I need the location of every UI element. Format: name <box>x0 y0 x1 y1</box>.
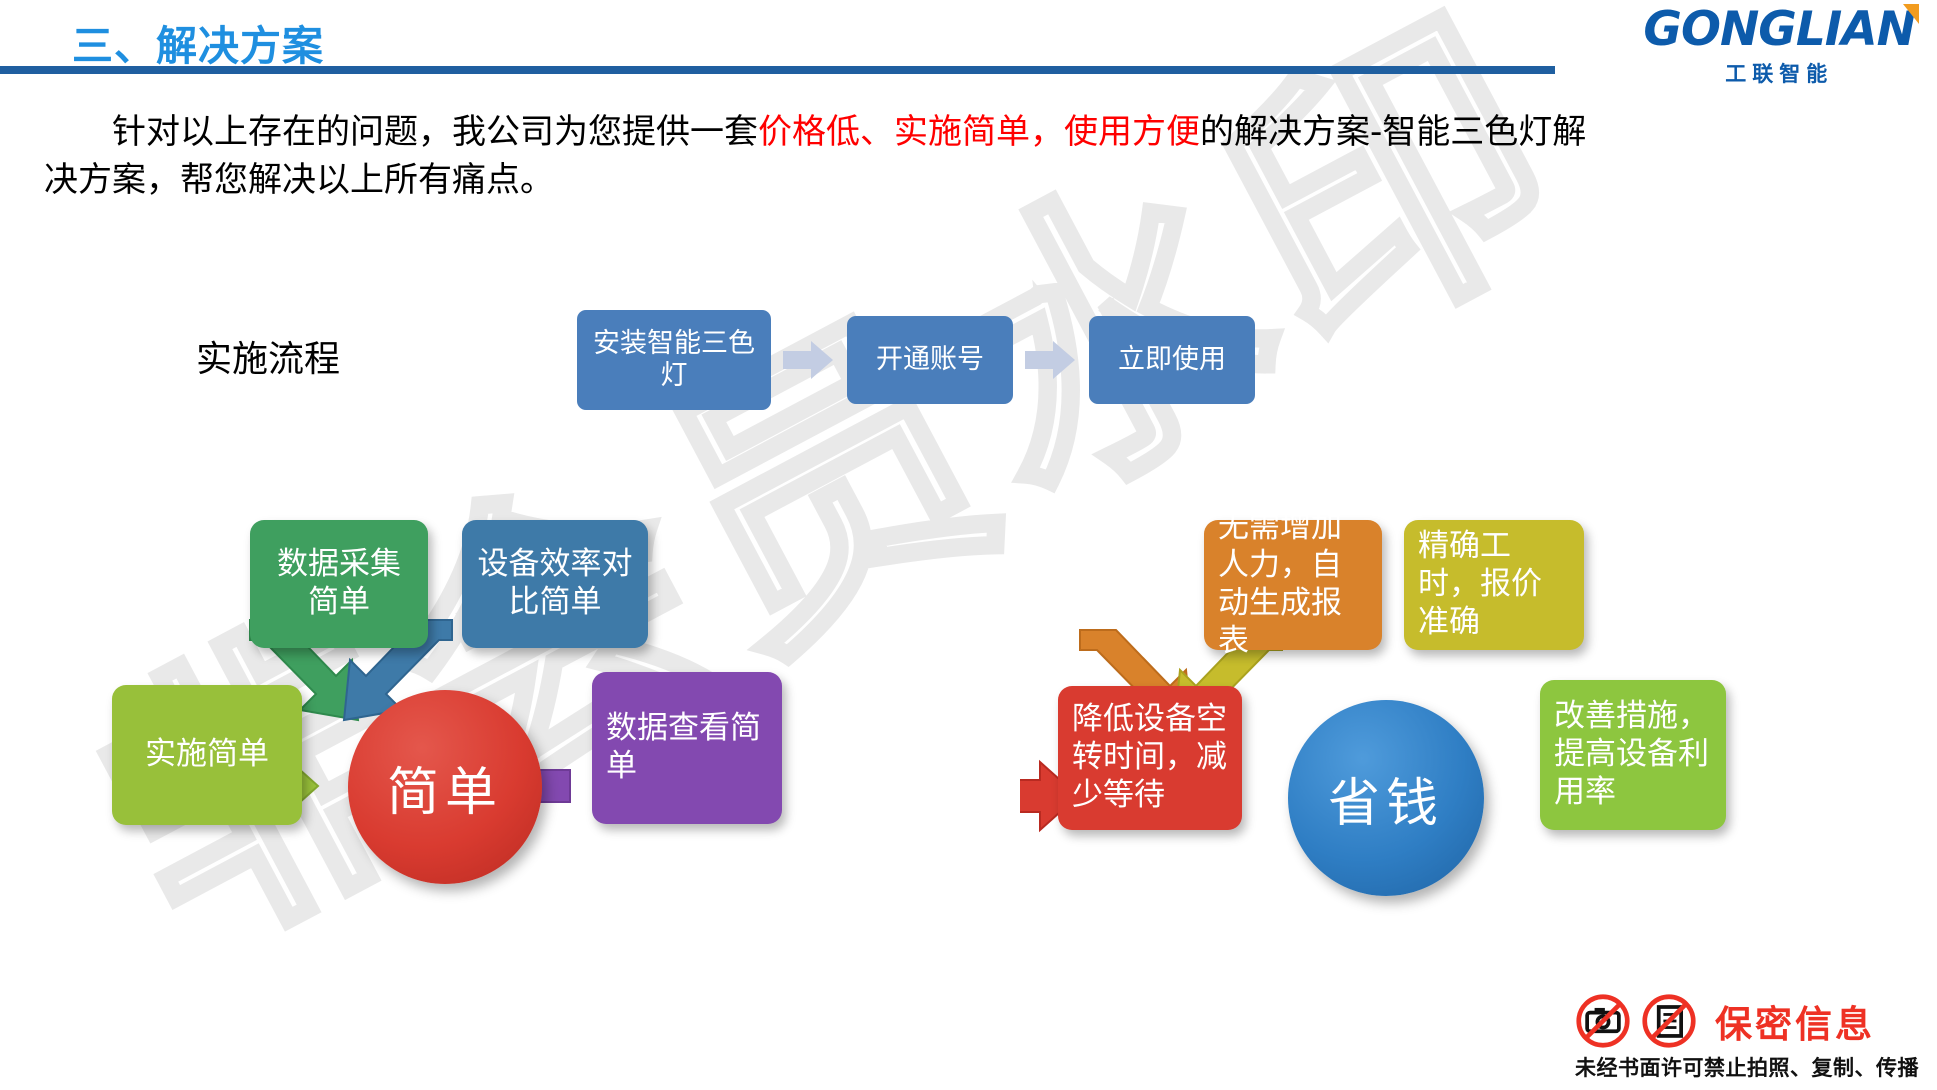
node-reduce-idle-time[interactable]: 降低设备空转时间，减少等待 <box>1058 686 1242 830</box>
implementation-flow: 安装智能三色灯 开通账号 立即使用 <box>577 310 1255 410</box>
confidential-notice: 保密信息 未经书面许可禁止拍照、复制、传播 <box>1575 993 1919 1082</box>
flow-step-1[interactable]: 安装智能三色灯 <box>577 310 771 410</box>
node-accurate-work-hours[interactable]: 精确工时，报价准确 <box>1404 520 1584 650</box>
body-lead: 针对以上存在的问题，我公司为您提供一套 <box>112 112 758 152</box>
node-no-extra-manpower[interactable]: 无需增加人力，自动生成报表 <box>1204 520 1382 650</box>
body-highlight: 价格低、实施简单，使用方便 <box>758 112 1200 152</box>
flow-arrow-right-icon-2 <box>1025 339 1077 381</box>
hub-save-money[interactable]: 省钱 <box>1288 700 1484 896</box>
logo-subtitle: 工联智能 <box>1643 58 1915 88</box>
logo-wordmark: GONGLIAN <box>1643 6 1915 53</box>
body-paragraph: 针对以上存在的问题，我公司为您提供一套价格低、实施简单，使用方便的解决方案-智能… <box>44 108 1604 205</box>
flow-step-3[interactable]: 立即使用 <box>1089 316 1255 404</box>
node-data-view-simple[interactable]: 数据查看简单 <box>592 672 782 824</box>
flow-step-2[interactable]: 开通账号 <box>847 316 1013 404</box>
node-improve-utilization[interactable]: 改善措施，提高设备利用率 <box>1540 680 1726 830</box>
confidential-title: 保密信息 <box>1715 994 1875 1048</box>
node-equipment-efficiency-compare[interactable]: 设备效率对比简单 <box>462 520 648 648</box>
company-logo: GONGLIAN 工联智能 <box>1643 6 1915 88</box>
node-implementation-simple[interactable]: 实施简单 <box>112 685 302 825</box>
hub-simple[interactable]: 简单 <box>348 690 542 884</box>
confidential-row: 保密信息 <box>1575 993 1919 1049</box>
slide-canvas: 非会员水印 三、解决方案 GONGLIAN 工联智能 针对以上存在的问题，我公司… <box>0 0 1937 1090</box>
flow-arrow-right-icon <box>783 339 835 381</box>
node-data-collection-simple[interactable]: 数据采集简单 <box>250 520 428 648</box>
title-divider <box>0 66 1555 74</box>
no-copy-icon <box>1641 993 1697 1049</box>
logo-accent-icon <box>1903 4 1919 24</box>
no-camera-icon <box>1575 993 1631 1049</box>
flow-section-label: 实施流程 <box>196 330 340 382</box>
confidential-subtitle: 未经书面许可禁止拍照、复制、传播 <box>1575 1052 1919 1082</box>
page-title: 三、解决方案 <box>72 12 324 72</box>
